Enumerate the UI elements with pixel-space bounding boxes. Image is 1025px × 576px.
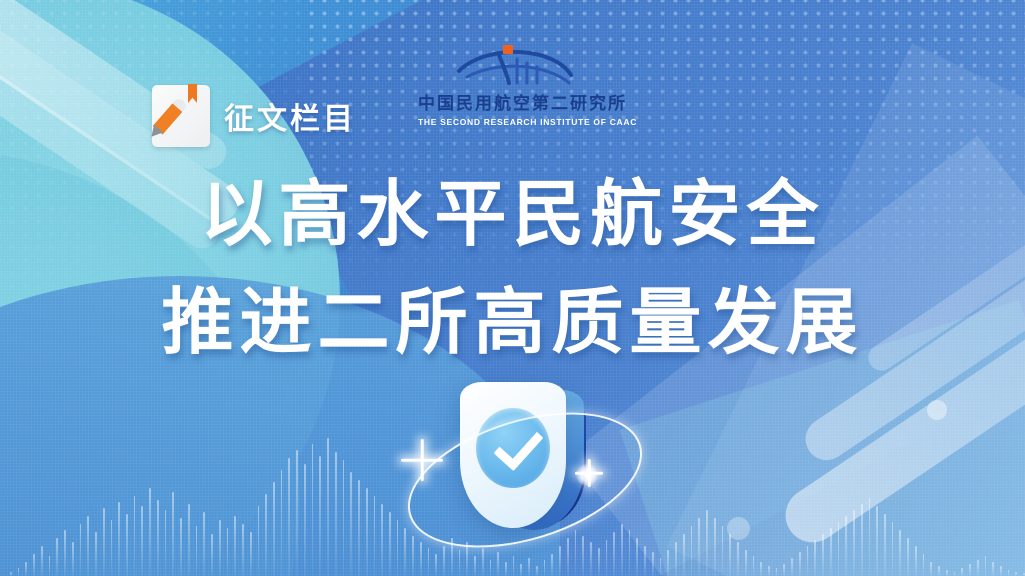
waveform-bar bbox=[992, 562, 994, 576]
waveform-bar bbox=[335, 452, 337, 576]
waveform-bar bbox=[41, 546, 43, 576]
notepad-pencil-icon bbox=[152, 85, 210, 147]
section-tag-label: 征文栏目 bbox=[224, 94, 356, 138]
waveform-bar bbox=[126, 514, 128, 576]
waveform-bar bbox=[258, 506, 260, 576]
waveform-bar bbox=[227, 528, 229, 576]
waveform-bar bbox=[691, 526, 693, 576]
waveform-bar bbox=[814, 540, 816, 576]
waveform-bar bbox=[265, 494, 267, 576]
waveform-bar bbox=[714, 518, 716, 576]
waveform-bar bbox=[242, 524, 244, 576]
waveform-bar bbox=[157, 500, 159, 576]
waveform-bar bbox=[134, 496, 136, 576]
waveform-bar bbox=[923, 554, 925, 576]
waveform-bar bbox=[853, 510, 855, 576]
waveform-bar bbox=[753, 556, 755, 576]
waveform-bar bbox=[366, 488, 368, 576]
waveform-bar bbox=[1000, 566, 1002, 576]
waveform-bar bbox=[80, 524, 82, 576]
waveform-bar bbox=[381, 504, 383, 576]
waveform-bar bbox=[892, 522, 894, 576]
waveform-bar bbox=[838, 522, 840, 576]
waveform-bar bbox=[969, 564, 971, 576]
headline-line-2: 推进二所高质量发展 bbox=[0, 268, 1025, 376]
waveform-bar bbox=[95, 532, 97, 576]
caac-logo-name-cn: 中国民用航空第二研究所 bbox=[418, 89, 618, 114]
waveform-bar bbox=[729, 534, 731, 576]
waveform-bar bbox=[111, 520, 113, 576]
waveform-bar bbox=[722, 526, 724, 576]
waveform-bar bbox=[180, 518, 182, 576]
waveform-bar bbox=[954, 572, 956, 576]
waveform-bar bbox=[172, 492, 174, 576]
waveform-bar bbox=[907, 538, 909, 576]
waveform-bar bbox=[56, 538, 58, 576]
waveform-bar bbox=[930, 562, 932, 576]
waveform-bar bbox=[845, 516, 847, 576]
waveform-bar bbox=[830, 528, 832, 576]
waveform-bar bbox=[149, 488, 151, 576]
waveform-bar bbox=[807, 546, 809, 576]
waveform-bar bbox=[884, 514, 886, 576]
waveform-bar bbox=[296, 450, 298, 576]
waveform-bar bbox=[737, 542, 739, 576]
waveform-bar bbox=[118, 502, 120, 576]
waveform-bar bbox=[667, 550, 669, 576]
waveform-bar bbox=[10, 572, 12, 576]
waveform-bar bbox=[288, 458, 290, 576]
waveform-bar bbox=[374, 496, 376, 576]
waveform-bar bbox=[536, 566, 538, 576]
waveform-bar bbox=[776, 568, 778, 576]
sparkle-icon bbox=[400, 438, 444, 482]
waveform-bar bbox=[64, 530, 66, 576]
waveform-bar bbox=[783, 564, 785, 576]
waveform-bar bbox=[660, 558, 662, 576]
waveform-bar bbox=[203, 512, 205, 576]
pencil-icon bbox=[147, 97, 188, 142]
waveform-bar bbox=[389, 512, 391, 576]
waveform-bar bbox=[343, 460, 345, 576]
waveform-bar bbox=[25, 562, 27, 576]
caac-logo-name-en: THE SECOND RESEARCH INSTITUTE OF CAAC bbox=[418, 117, 618, 127]
waveform-bar bbox=[219, 520, 221, 576]
waveform-bar bbox=[1008, 570, 1010, 576]
waveform-bar bbox=[312, 444, 314, 576]
waveform-bar bbox=[915, 546, 917, 576]
waveform-bar bbox=[211, 534, 213, 576]
waveform-bar bbox=[319, 456, 321, 576]
waveform-bar bbox=[72, 542, 74, 576]
caac-logo: 中国民用航空第二研究所 THE SECOND RESEARCH INSTITUT… bbox=[418, 42, 618, 127]
waveform-bar bbox=[799, 552, 801, 576]
waveform-bar bbox=[869, 498, 871, 576]
waveform-bar bbox=[768, 566, 770, 576]
waveform-bar bbox=[698, 518, 700, 576]
headline: 以高水平民航安全 推进二所高质量发展 bbox=[0, 160, 1025, 376]
waveform-bar bbox=[358, 480, 360, 576]
waveform-bar bbox=[961, 568, 963, 576]
waveform-bar bbox=[652, 552, 654, 576]
waveform-bar bbox=[196, 526, 198, 576]
waveform-bar bbox=[273, 482, 275, 576]
waveform-bar bbox=[985, 556, 987, 576]
headline-line-1: 以高水平民航安全 bbox=[0, 160, 1025, 268]
waveform-bar bbox=[683, 534, 685, 576]
waveform-bar bbox=[18, 568, 20, 576]
promo-banner: 征文栏目 中国民用航空第二研究所 THE SECOND RESEARCH INS… bbox=[0, 0, 1025, 576]
waveform-bar bbox=[234, 516, 236, 576]
waveform-bar bbox=[49, 556, 51, 576]
waveform-bar bbox=[87, 516, 89, 576]
waveform-bar bbox=[675, 542, 677, 576]
waveform-bar bbox=[899, 530, 901, 576]
decor-dot-icon bbox=[927, 400, 947, 420]
waveform-bar bbox=[304, 464, 306, 576]
waveform-bar bbox=[706, 510, 708, 576]
caac-swoosh-emblem-icon bbox=[418, 42, 618, 88]
waveform-bar bbox=[165, 510, 167, 576]
sparkle-icon bbox=[574, 458, 604, 488]
waveform-bar bbox=[760, 562, 762, 576]
waveform-bar bbox=[791, 558, 793, 576]
waveform-bar bbox=[188, 504, 190, 576]
waveform-bar bbox=[861, 504, 863, 576]
waveform-bar bbox=[327, 438, 329, 576]
waveform-bar bbox=[745, 550, 747, 576]
bookmark-ribbon-icon bbox=[188, 84, 197, 103]
waveform-bar bbox=[876, 506, 878, 576]
waveform-bar bbox=[938, 566, 940, 576]
waveform-bar bbox=[977, 560, 979, 576]
waveform-bar bbox=[103, 508, 105, 576]
waveform-bar bbox=[1015, 572, 1017, 576]
shield-emblem bbox=[398, 376, 648, 566]
waveform-bar bbox=[250, 532, 252, 576]
waveform-bar bbox=[33, 554, 35, 576]
waveform-bar bbox=[141, 506, 143, 576]
waveform-bar bbox=[281, 470, 283, 576]
section-tag: 征文栏目 bbox=[152, 85, 356, 147]
waveform-bar bbox=[946, 570, 948, 576]
waveform-bar bbox=[822, 534, 824, 576]
waveform-bar bbox=[350, 472, 352, 576]
